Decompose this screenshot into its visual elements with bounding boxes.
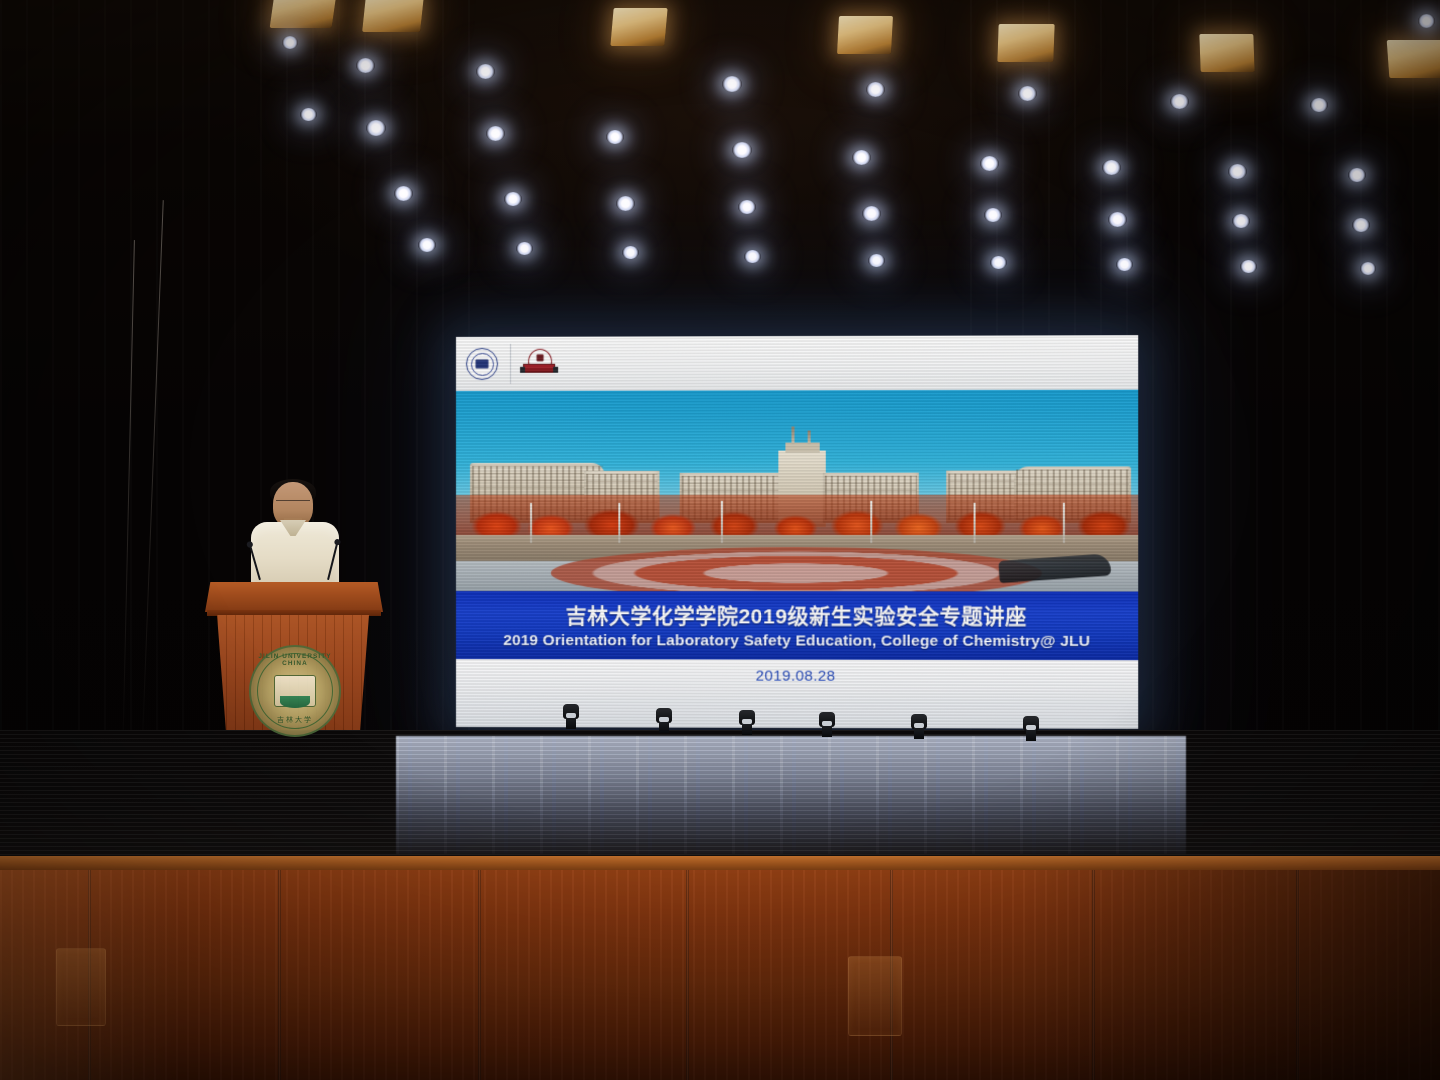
ceiling-spot-light [504,192,522,206]
slide-title-band: 吉林大学化学学院2019级新生实验安全专题讲座 2019 Orientation… [456,591,1138,660]
ceiling-spot-light [616,196,635,211]
ceiling-spot-light [356,58,375,73]
logo-divider [510,344,511,384]
slide-date: 2019.08.28 [756,668,836,685]
ceiling-spot-light [980,156,999,171]
ceiling-spot-light [516,242,533,255]
slide-header-band [456,335,1138,391]
ceiling-spot-light [990,256,1007,269]
led-presentation-screen[interactable]: 吉林大学化学学院2019级新生实验安全专题讲座 2019 Orientation… [456,335,1138,729]
ceiling-spot-light [366,120,386,136]
podium-emblem-sublabel: 吉林大学 [251,715,339,725]
campus-photo [456,390,1138,592]
ceiling-spot-light [606,130,624,144]
lamp-post [619,503,621,543]
stage-front-highlight [0,870,180,1080]
podium-top-surface [205,582,383,612]
plaza-fountain-reflection [551,547,1042,592]
stage-front-shadow [1020,870,1440,1080]
slide-title-chinese: 吉林大学化学学院2019级新生实验安全专题讲座 [566,600,1027,631]
moving-head-stage-light [562,704,580,730]
auditorium-scene: 吉林大学化学学院2019级新生实验安全专题讲座 2019 Orientation… [0,0,1440,1080]
moving-head-stage-light [910,714,928,740]
lamp-post [1063,503,1065,543]
stage-front-vent-right [848,956,902,1036]
ceiling-spot-light [862,206,881,221]
ceiling-spot-light [866,82,885,97]
campus-tower-spire [808,431,811,445]
ceiling-panel-light [610,8,667,46]
college-of-chemistry-badge-icon [523,349,555,379]
ceiling-spot-light [300,108,317,121]
ceiling-spot-light [1228,164,1247,179]
jilin-university-podium-emblem: JILIN UNIVERSITY CHINA 吉林大学 [249,645,341,737]
speaker-glasses [276,500,310,508]
lamp-post [973,503,975,543]
lamp-post [871,501,873,543]
podium-emblem-label: JILIN UNIVERSITY CHINA [251,653,339,667]
campus-tower-cap [785,443,819,453]
ceiling-spot-light [1108,212,1127,227]
panel-seam [686,870,689,1080]
ceiling-panel-light [1387,40,1440,78]
lamp-post [721,501,723,543]
panel-seam [278,870,281,1080]
ceiling-spot-light [1348,168,1366,182]
campus-tower-spire [791,427,794,445]
ceiling-spot-light [476,64,495,79]
ceiling-spot-light [852,150,871,165]
ceiling-spot-light [418,238,436,252]
ceiling-panel-light [362,0,424,32]
ceiling-spot-light [1102,160,1121,175]
ceiling-spot-light [722,76,742,92]
ceiling-spot-light [1240,260,1257,273]
ceiling-panel-light [997,24,1054,62]
moving-head-stage-light [818,712,836,738]
ceiling-panel-light [270,0,337,28]
ceiling-spot-light [1352,218,1370,232]
ceiling-spot-light [984,208,1002,222]
moving-head-stage-light [655,708,673,734]
ceiling-spot-light [1310,98,1328,112]
ceiling-panel-light [1199,34,1254,72]
stage-front-edge-trim [0,856,1440,870]
ceiling-spot-light [1418,14,1435,28]
moving-head-stage-light [738,710,756,736]
panel-seam [478,870,481,1080]
ceiling-spot-light [486,126,505,141]
moving-head-stage-light [1022,716,1040,742]
ceiling-spot-light [1232,214,1250,228]
slide-title-english: 2019 Orientation for Laboratory Safety E… [503,632,1090,651]
ceiling-spot-light [1360,262,1376,275]
ceiling-spot-light [394,186,413,201]
ceiling-spot-light [738,200,756,214]
ceiling-panel-light [837,16,893,54]
ceiling-spot-light [732,142,752,158]
ceiling-spot-light [1170,94,1189,109]
ceiling-spot-light [1116,258,1133,271]
ceiling-spot-light [868,254,885,267]
jilin-university-seal-icon [466,348,498,380]
ceiling-spot-light [622,246,639,259]
ceiling-spot-light [744,250,761,263]
stage-floor-scanlines [0,730,1440,865]
ceiling-spot-light [282,36,298,49]
ceiling-spot-light [1018,86,1037,101]
lamp-post [530,503,532,543]
